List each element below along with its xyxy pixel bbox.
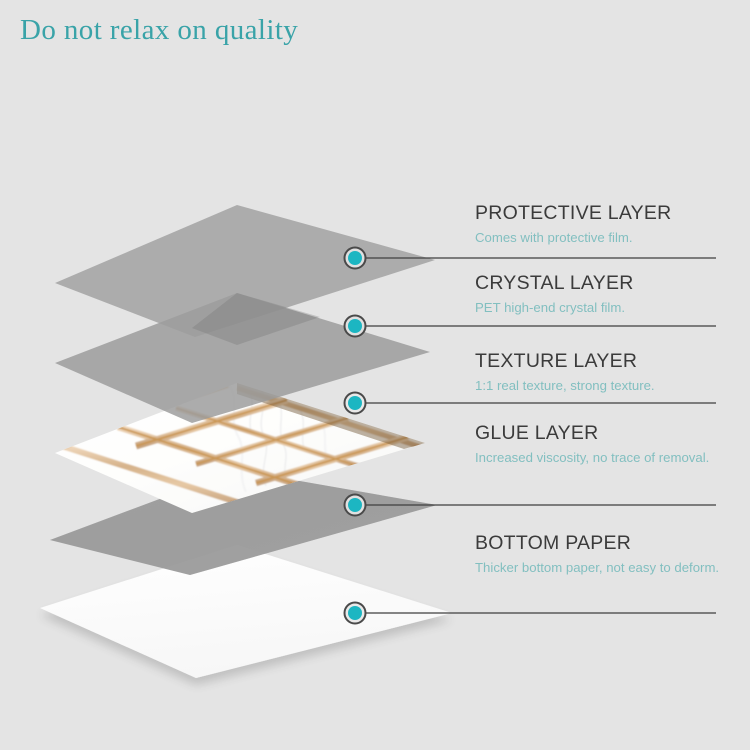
callout-subtitle: Comes with protective film. xyxy=(475,227,720,248)
circle-node-icon-crystal[interactable] xyxy=(345,316,366,337)
circle-node-icon-protective[interactable] xyxy=(345,248,366,269)
callout-crystal-layer: CRYSTAL LAYER PET high-end crystal film. xyxy=(475,272,720,319)
callout-protective-layer: PROTECTIVE LAYER Comes with protective f… xyxy=(475,202,720,249)
callout-subtitle: Increased viscosity, no trace of removal… xyxy=(475,447,720,468)
circle-node-icon-glue[interactable] xyxy=(345,495,366,516)
circle-node-icon-bottom-paper[interactable] xyxy=(345,603,366,624)
callout-title: BOTTOM PAPER xyxy=(475,532,720,554)
circle-node-icon-texture[interactable] xyxy=(345,393,366,414)
callout-glue-layer: GLUE LAYER Increased viscosity, no trace… xyxy=(475,422,720,469)
callout-title: CRYSTAL LAYER xyxy=(475,272,720,294)
callout-subtitle: PET high-end crystal film. xyxy=(475,297,720,318)
callout-subtitle: Thicker bottom paper, not easy to deform… xyxy=(475,557,720,578)
callout-texture-layer: TEXTURE LAYER 1:1 real texture, strong t… xyxy=(475,350,720,397)
callout-title: PROTECTIVE LAYER xyxy=(475,202,720,224)
callout-title: TEXTURE LAYER xyxy=(475,350,720,372)
callout-subtitle: 1:1 real texture, strong texture. xyxy=(475,375,720,396)
callout-title: GLUE LAYER xyxy=(475,422,720,444)
callout-bottom-paper: BOTTOM PAPER Thicker bottom paper, not e… xyxy=(475,532,720,579)
layer-bottom-paper xyxy=(40,545,452,678)
